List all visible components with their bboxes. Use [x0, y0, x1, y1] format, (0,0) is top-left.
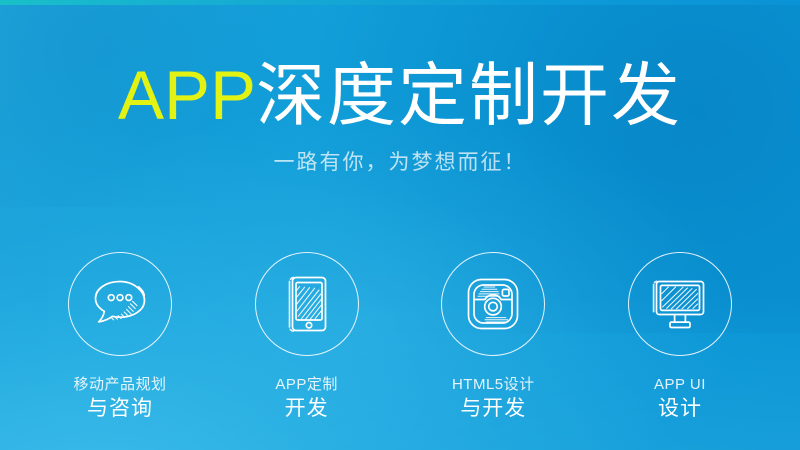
camera-icon [462, 273, 524, 335]
feature-item-html5[interactable]: HTML5设计 与开发 [413, 252, 573, 423]
feature-caption: APP定制 开发 [275, 374, 338, 423]
feature-caption-line2: 与咨询 [73, 395, 166, 423]
feature-icon-circle [441, 252, 545, 356]
speech-bubble-icon [89, 275, 151, 333]
feature-caption-line1: APP定制 [275, 374, 338, 395]
feature-item-app-development[interactable]: APP定制 开发 [227, 252, 387, 423]
feature-icon-circle [255, 252, 359, 356]
feature-list: 移动产品规划 与咨询 [0, 252, 800, 423]
feature-caption-line2: 开发 [275, 395, 338, 423]
page-title: APP深度定制开发 [0, 55, 800, 137]
feature-caption-line1: HTML5设计 [452, 374, 535, 395]
feature-caption-line1: 移动产品规划 [73, 374, 166, 395]
feature-caption: 移动产品规划 与咨询 [73, 374, 166, 423]
banner-content: APP深度定制开发 一路有你，为梦想而征！ [0, 0, 800, 450]
feature-caption-line2: 设计 [654, 395, 706, 423]
feature-caption-line1: APP UI [654, 374, 706, 395]
promo-banner: APP深度定制开发 一路有你，为梦想而征！ [0, 0, 800, 450]
feature-caption: APP UI 设计 [654, 374, 706, 423]
desktop-monitor-icon [648, 275, 712, 333]
feature-icon-circle [628, 252, 732, 356]
feature-item-app-ui[interactable]: APP UI 设计 [600, 252, 760, 423]
feature-icon-circle [68, 252, 172, 356]
tablet-device-icon [281, 271, 333, 337]
title-chinese-text: 深度定制开发 [256, 57, 682, 134]
feature-caption-line2: 与开发 [452, 395, 535, 423]
feature-item-planning[interactable]: 移动产品规划 与咨询 [40, 252, 200, 423]
title-app-text: APP [118, 57, 256, 134]
feature-caption: HTML5设计 与开发 [452, 374, 535, 423]
page-subtitle: 一路有你，为梦想而征！ [0, 148, 800, 178]
